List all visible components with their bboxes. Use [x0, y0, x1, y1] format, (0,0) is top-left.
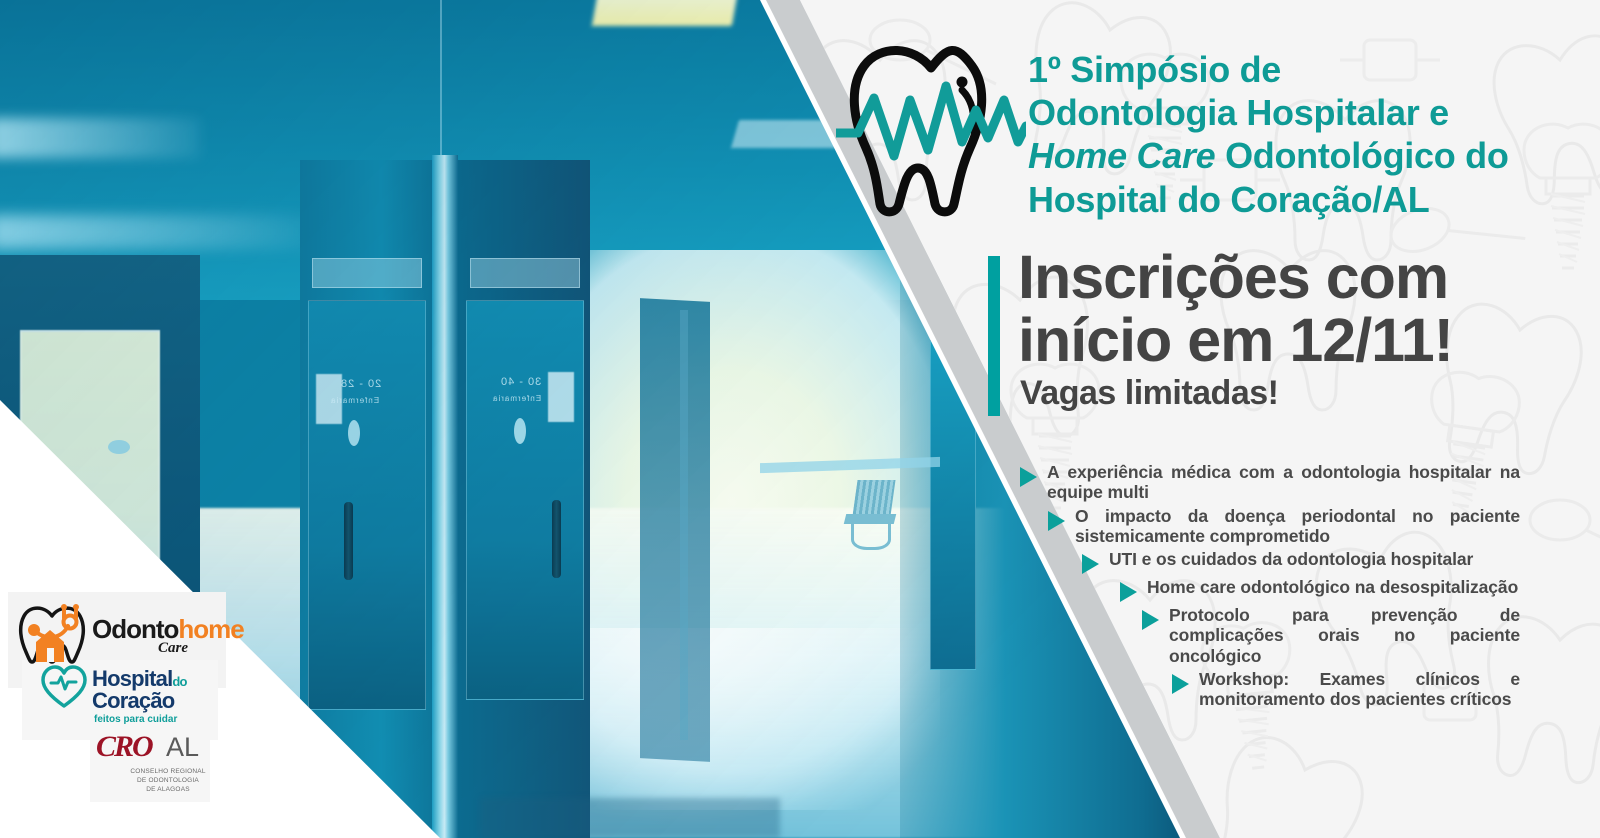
list-item: O impacto da doença periodontal no pacie…	[1048, 506, 1520, 547]
logo-care-script: Care	[158, 640, 188, 657]
event-title-line-4: Hospital do Coração/AL	[1028, 178, 1588, 221]
logo-home-text: home	[178, 614, 243, 644]
headline-accent-bar	[988, 256, 1000, 416]
triangle-right-icon	[1142, 610, 1159, 630]
topic-text: O impacto da doença periodontal no pacie…	[1075, 506, 1520, 547]
logo-hospital-tagline: feitos para cuidar	[94, 714, 177, 725]
logo-cro-al: CRO AL CONSELHO REGIONAL DE ODONTOLOGIA …	[96, 730, 216, 800]
headline-line-1: Inscrições com	[1018, 246, 1598, 309]
tooth-heartbeat-icon	[836, 38, 1026, 218]
promo-banner: 20 - 28 Enfermaria 30 - 40 Enfermaria	[0, 0, 1600, 838]
list-item: UTI e os cuidados da odontologia hospita…	[1082, 549, 1520, 574]
list-item: Protocolo para prevenção de complicações…	[1142, 605, 1520, 666]
logo-cro-wordmark: CRO	[96, 730, 152, 764]
headline-line-2: início em 12/11!	[1018, 309, 1598, 372]
triangle-right-icon	[1048, 511, 1065, 531]
logo-cro-subtitle-line-1: CONSELHO REGIONAL	[118, 768, 218, 777]
logo-cro-state: AL	[166, 732, 199, 763]
headline-subtitle: Vagas limitadas!	[1020, 374, 1580, 413]
logo-cro-subtitle: CONSELHO REGIONAL DE ODONTOLOGIA DE ALAG…	[118, 768, 218, 794]
logo-cro-subtitle-line-3: DE ALAGOAS	[118, 786, 218, 795]
triangle-right-icon	[1020, 467, 1037, 487]
event-title-line-2: Odontologia Hospitalar e	[1028, 91, 1588, 134]
topics-list: A experiência médica com a odontologia h…	[1020, 462, 1540, 713]
event-title-line-1: 1º Simpósio de	[1028, 48, 1588, 91]
list-item: A experiência médica com a odontologia h…	[1020, 462, 1520, 503]
list-item: Home care odontológico na desospitalizaç…	[1120, 577, 1520, 602]
topic-text: UTI e os cuidados da odontologia hospita…	[1109, 549, 1473, 569]
triangle-right-icon	[1082, 554, 1099, 574]
topic-text: Home care odontológico na desospitalizaç…	[1147, 577, 1518, 597]
topic-text: Workshop: Exames clínicos e monitorament…	[1199, 669, 1520, 710]
logo-cro-subtitle-line-2: DE ODONTOLOGIA	[118, 777, 218, 786]
logo-hospital-wordmark: Hospitaldo Coração	[92, 668, 187, 713]
event-title-line-3-rest: Odontológico do	[1215, 135, 1508, 176]
triangle-right-icon	[1172, 674, 1189, 694]
event-title-line-3: Home Care Odontológico do	[1028, 134, 1588, 177]
logo-odontohome-care: Odontohome Care	[16, 600, 221, 670]
logo-hospital-do-coracao: Hospitaldo Coração feitos para cuidar	[40, 664, 220, 736]
event-title-home-care: Home Care	[1028, 135, 1215, 176]
list-item: Workshop: Exames clínicos e monitorament…	[1172, 669, 1520, 710]
logo-coracao-text: Coração	[92, 688, 174, 713]
logo-do-text: do	[172, 674, 186, 689]
logo-hospital-text: Hospital	[92, 666, 172, 691]
headline: Inscrições com início em 12/11!	[1018, 246, 1598, 373]
topic-text: Protocolo para prevenção de complicações…	[1169, 605, 1520, 666]
triangle-right-icon	[1120, 582, 1137, 602]
tooth-house-stethoscope-icon	[16, 600, 88, 666]
heart-outline-icon	[40, 664, 88, 710]
topic-text: A experiência médica com a odontologia h…	[1047, 462, 1520, 503]
event-title: 1º Simpósio de Odontologia Hospitalar e …	[1028, 48, 1588, 221]
